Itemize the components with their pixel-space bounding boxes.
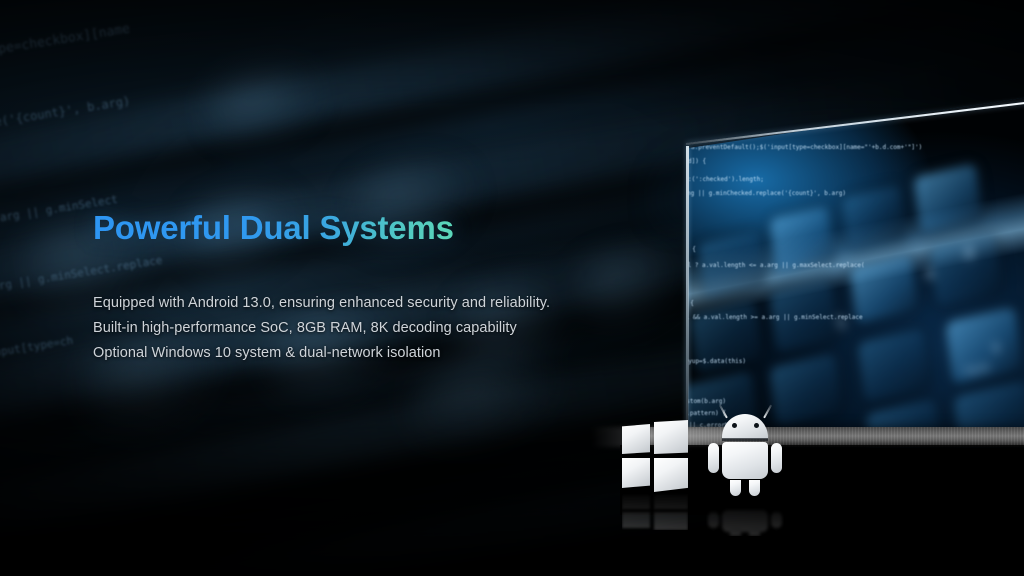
android-robot-logo xyxy=(706,404,784,494)
panel-key-shapes: 4 5 8 9 PgUp xyxy=(636,96,1024,448)
android-arm-left xyxy=(708,443,719,473)
android-antenna-left xyxy=(719,404,728,418)
android-eye-left xyxy=(732,423,737,428)
reflection-arm xyxy=(708,512,719,528)
list-item: Built-in high-performance SoC, 8GB RAM, … xyxy=(93,316,613,341)
android-logo-reflection xyxy=(706,494,784,536)
panel-left-bezel xyxy=(686,146,689,448)
list-item: Equipped with Android 13.0, ensuring enh… xyxy=(93,291,613,316)
windows-pane-bottom-right xyxy=(654,458,688,492)
android-antenna-right xyxy=(763,404,772,418)
windows-logo-reflection xyxy=(622,490,688,530)
laptop-screen-panel: 4 5 8 9 PgUp a.preventDefault();$('input… xyxy=(636,96,1024,448)
reflection-body xyxy=(722,510,768,532)
reflection-pane xyxy=(622,495,650,509)
page-title: Powerful Dual Systems xyxy=(93,208,613,248)
windows-pane-top-left xyxy=(622,424,650,454)
android-head xyxy=(722,414,768,439)
android-body xyxy=(722,442,768,479)
text-content-block: Powerful Dual Systems Equipped with Andr… xyxy=(93,208,613,366)
slide-canvas: type=checkbox][name lace('{count}', b.ar… xyxy=(0,0,1024,576)
reflection-pane xyxy=(622,512,650,528)
android-neck-gap xyxy=(722,438,768,441)
reflection-arm xyxy=(771,512,782,528)
reflection-leg xyxy=(730,528,741,536)
windows-pane-bottom-left xyxy=(622,458,650,488)
list-item: Optional Windows 10 system & dual-networ… xyxy=(93,341,613,366)
reflection-leg xyxy=(749,528,760,536)
windows-logo xyxy=(622,418,688,492)
reflection-pane xyxy=(654,494,688,509)
android-eye-right xyxy=(754,423,759,428)
android-arm-right xyxy=(771,443,782,473)
panel-surface: 4 5 8 9 PgUp a.preventDefault();$('input… xyxy=(636,96,1024,448)
reflection-pane xyxy=(654,512,688,530)
windows-pane-top-right xyxy=(654,420,688,454)
feature-list: Equipped with Android 13.0, ensuring enh… xyxy=(93,291,613,366)
